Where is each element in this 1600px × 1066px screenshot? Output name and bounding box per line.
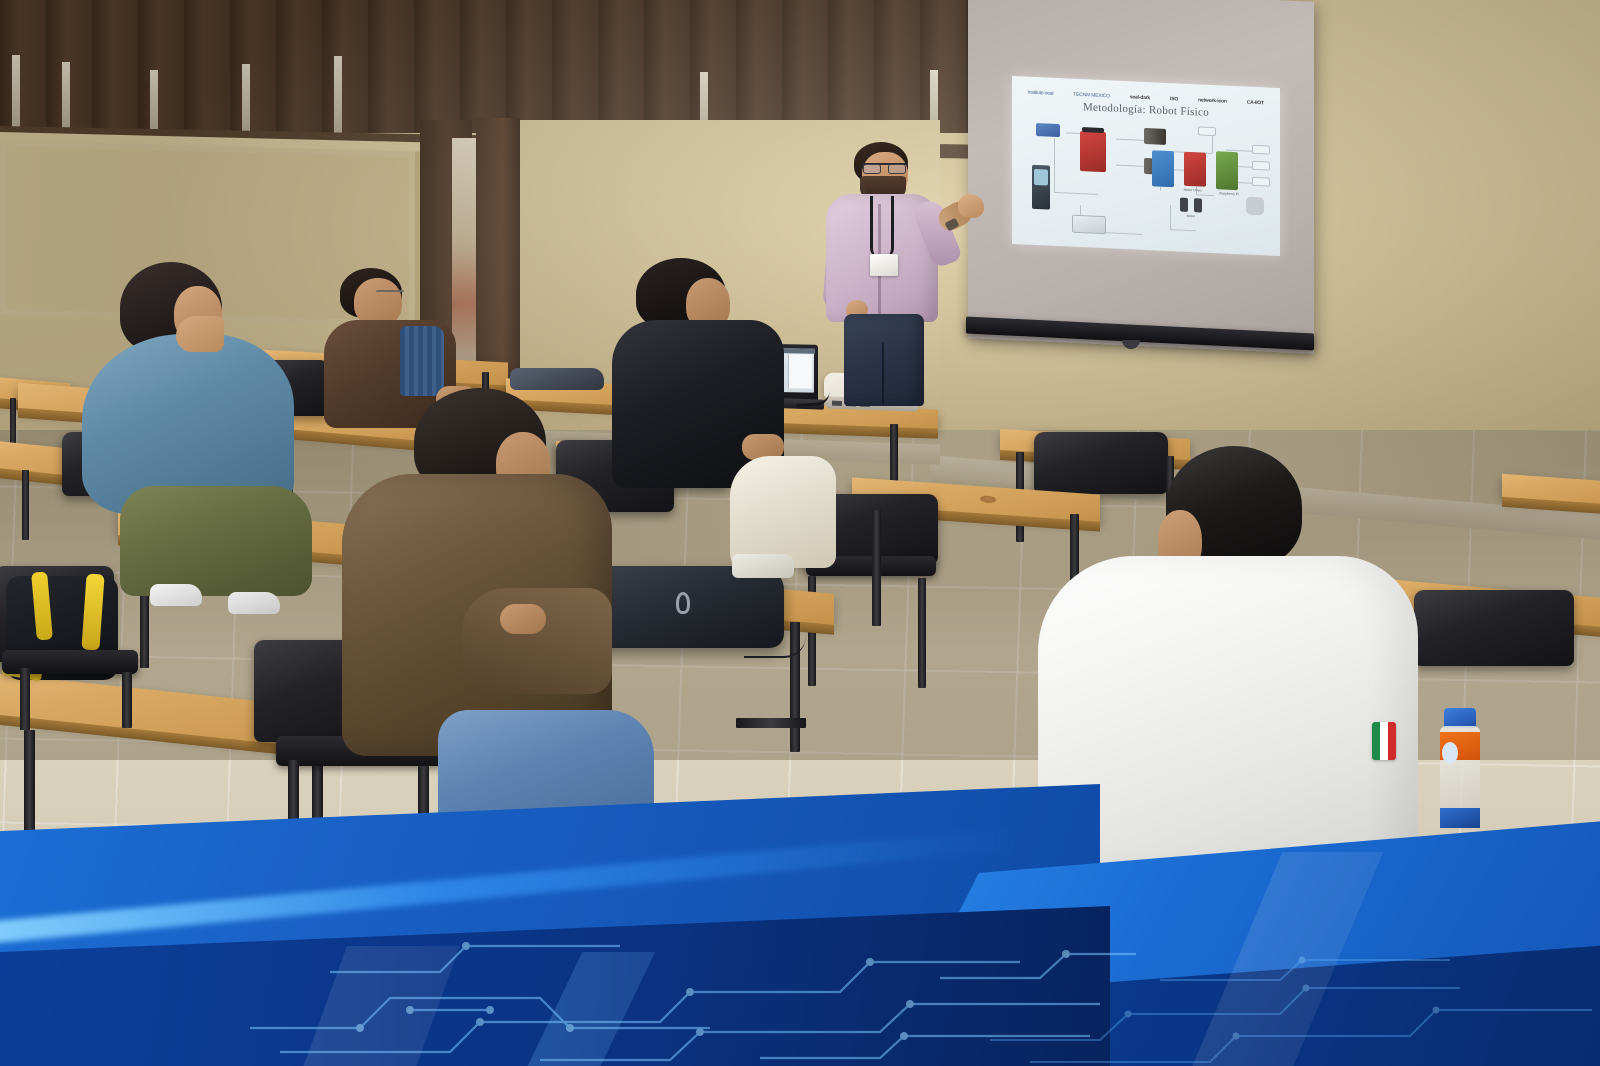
attendee-3-shoe	[732, 554, 794, 578]
chair-leg	[122, 672, 132, 728]
presenter-lanyard	[870, 196, 894, 258]
desk-rear-right-2	[1502, 474, 1600, 506]
slide-label-motor: Motor	[1176, 213, 1206, 218]
eyeglasses-icon	[862, 163, 908, 172]
attendee-1	[78, 262, 348, 632]
presenter-badge	[870, 254, 898, 276]
slide-logo-institute-seal: institute-seal	[1028, 90, 1053, 97]
bottle-cap	[1444, 708, 1476, 728]
chair-leg	[918, 578, 926, 688]
desk-foot-rail	[736, 718, 806, 728]
desk-leg	[22, 470, 29, 540]
desk-leg	[872, 510, 881, 626]
attendee-1-shoe-right	[228, 592, 280, 614]
screenshot-root: institute-seal TECNM MEXICO seal-dark IS…	[0, 0, 1600, 1066]
projected-slide: institute-seal TECNM MEXICO seal-dark IS…	[1012, 76, 1280, 256]
slide-logo-network: network-icon	[1198, 97, 1227, 104]
presenter	[818, 142, 998, 404]
attendee-2-plaid-shirt	[400, 326, 444, 396]
mexican-flag-patch-icon	[1372, 722, 1396, 760]
circuit-trace-pattern-right	[980, 952, 1600, 1066]
attendee-4-hand	[500, 604, 546, 634]
slide-logo-tecnm: TECNM MEXICO	[1073, 92, 1110, 100]
attendee-2-head	[354, 278, 402, 326]
tecnm-banner: TECNOLÓGICO NACIONAL DE MÉXICO® SomosTec…	[0, 756, 1600, 1066]
slide-diagram: Motor Driver Raspberry Pi Motor	[1020, 116, 1272, 251]
attendee-2-eyeglasses-icon	[376, 290, 404, 298]
attendee-1-hand	[176, 316, 224, 352]
slide-logo-ca-iiot: CA-IIOT	[1247, 100, 1264, 107]
presenter-leg-seam	[882, 342, 884, 404]
attendee-1-shoe-left	[150, 584, 202, 606]
presenter-jeans	[844, 314, 924, 406]
attendee-1-pants	[120, 486, 312, 596]
attendee-4-arm	[462, 588, 612, 694]
attendee-3-pants	[730, 456, 836, 568]
backpack-carabiner	[676, 592, 690, 614]
slide-logo-iso: ISO	[1170, 96, 1178, 102]
slide-logo-seal-dark: seal-dark	[1130, 94, 1150, 101]
presenter-hand-right	[958, 194, 984, 218]
slide-label-motor-driver: Motor Driver	[1176, 187, 1210, 193]
chair-leg	[20, 668, 30, 730]
bag-on-desk	[510, 368, 604, 390]
slide-label-raspberry-pi: Raspberry Pi	[1212, 191, 1246, 197]
